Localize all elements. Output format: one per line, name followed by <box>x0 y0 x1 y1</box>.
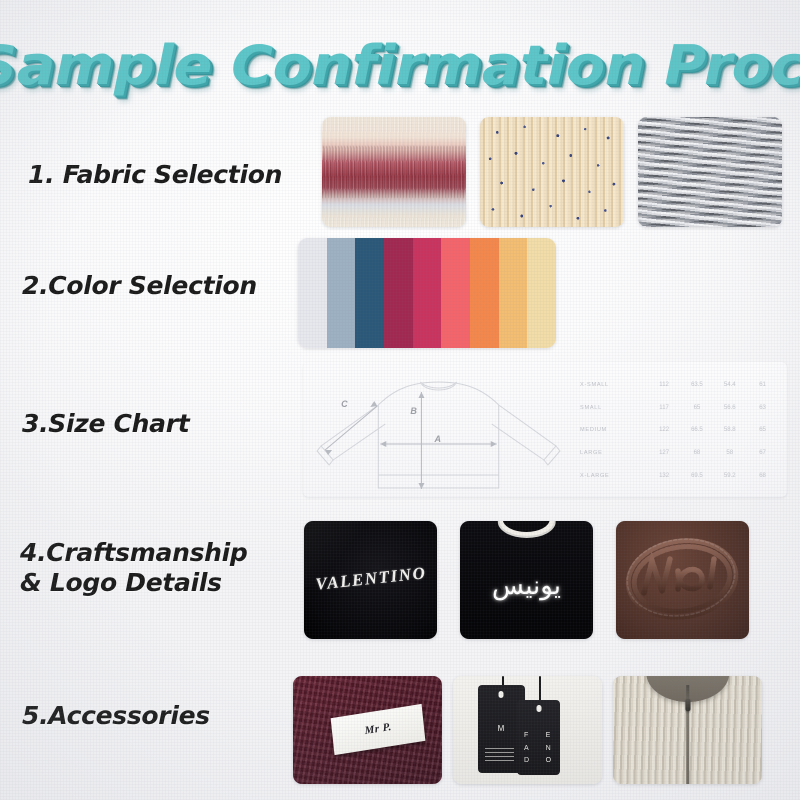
color-swatch-9[interactable] <box>527 238 556 348</box>
color-swatch-5[interactable] <box>413 238 442 348</box>
size-value: 56.6 <box>713 405 746 411</box>
craft-image-arabic-print[interactable]: يونيس <box>460 521 593 639</box>
color-swatch-6[interactable] <box>441 238 470 348</box>
hangtag-back: FAD ENO <box>517 700 560 776</box>
size-name: X-LARGE <box>580 473 648 479</box>
marl-texture-overlay-2 <box>638 117 782 227</box>
size-table-row: X-LARGE13269.559.268 <box>580 473 779 479</box>
color-palette-strip[interactable] <box>298 238 556 348</box>
measure-label-a: A <box>433 434 441 444</box>
size-name: SMALL <box>580 405 648 411</box>
sweater-technical-drawing: A B C <box>303 362 574 497</box>
size-table-row: SMALL1176556.663 <box>580 405 779 411</box>
accessory-woven-label[interactable]: Mr P. <box>293 676 442 784</box>
fabric-swatch-3[interactable] <box>638 117 782 227</box>
accessory-zipper-detail[interactable] <box>613 676 762 784</box>
size-value: 66.5 <box>681 427 714 433</box>
color-swatch-4[interactable] <box>384 238 413 348</box>
size-table: X-SMALL11263.554.461SMALL1176556.663MEDI… <box>574 362 787 497</box>
hangtag-hole-2 <box>536 705 541 712</box>
size-value: 68 <box>681 450 714 456</box>
fabric-swatch-1[interactable] <box>322 117 466 227</box>
arabic-script-print: يونيس <box>492 573 561 599</box>
hangtag-left-letters: FAD <box>524 727 530 769</box>
size-value: 63.5 <box>681 382 714 388</box>
step-label-4-line1: 4.Craftsmanship <box>20 538 248 568</box>
hangtag-letter: N <box>546 745 552 752</box>
size-value: 122 <box>648 427 681 433</box>
color-swatch-3[interactable] <box>355 238 384 348</box>
size-name: X-SMALL <box>580 382 648 388</box>
hangtag-letter: D <box>524 757 530 764</box>
step-label-3-line1: 3.Size Chart <box>22 409 189 438</box>
measure-label-c: C <box>341 399 348 409</box>
size-value: 65 <box>681 405 714 411</box>
poster-canvas: Sample Confirmation Process 1. Fabric Se… <box>0 0 800 800</box>
color-swatch-8[interactable] <box>499 238 528 348</box>
care-label-text: Mr P. <box>364 721 392 737</box>
fabric-swatch-2[interactable] <box>480 117 624 227</box>
size-value: 68 <box>746 473 779 479</box>
step-label-4: 4.Craftsmanship & Logo Details <box>20 538 248 598</box>
size-table-row: X-SMALL11263.554.461 <box>580 382 779 388</box>
size-chart-card[interactable]: A B C X-SMALL11263.554.461SMALL1176556.6… <box>303 362 787 497</box>
size-value: 54.4 <box>713 382 746 388</box>
step-label-5-line1: 5.Accessories <box>22 701 210 730</box>
size-value: 127 <box>648 450 681 456</box>
zipper-pull <box>685 699 690 711</box>
speckle-overlay <box>480 117 624 227</box>
page-title: Sample Confirmation Process <box>0 34 800 98</box>
accessory-hangtags[interactable]: M FAD ENO <box>453 676 602 784</box>
size-table-row: MEDIUM12266.558.865 <box>580 427 779 433</box>
step-label-1-line1: 1. Fabric Selection <box>28 160 282 189</box>
craft-image-embossed-logo[interactable] <box>616 521 749 639</box>
hangtag-fineprint <box>485 748 515 762</box>
size-value: 67 <box>746 450 779 456</box>
hangtag-hole-1 <box>499 691 504 698</box>
step-label-2: 2.Color Selection <box>22 271 257 301</box>
step-label-4-line2: & Logo Details <box>20 568 248 598</box>
size-name: MEDIUM <box>580 427 648 433</box>
craft-image-valentino[interactable]: VALENTINO <box>304 521 437 639</box>
color-swatch-7[interactable] <box>470 238 499 348</box>
step-label-5: 5.Accessories <box>22 701 210 731</box>
color-swatch-1[interactable] <box>298 238 327 348</box>
size-value: 117 <box>648 405 681 411</box>
size-value: 58.8 <box>713 427 746 433</box>
hangtag-letter: M <box>498 724 506 733</box>
size-value: 132 <box>648 473 681 479</box>
tshirt-collar <box>497 521 556 538</box>
size-value: 59.2 <box>713 473 746 479</box>
size-value: 112 <box>648 382 681 388</box>
size-value: 61 <box>746 382 779 388</box>
hangtag-letter: F <box>524 732 530 739</box>
hangtag-letter: O <box>546 757 552 764</box>
fabric-texture-band <box>322 146 466 199</box>
measure-label-b: B <box>410 406 417 416</box>
step-label-2-line1: 2.Color Selection <box>22 271 257 300</box>
hangtag-letter: A <box>524 745 530 752</box>
size-table-row: LARGE127685867 <box>580 450 779 456</box>
size-value: 69.5 <box>681 473 714 479</box>
step-label-1: 1. Fabric Selection <box>28 160 282 190</box>
step-label-3: 3.Size Chart <box>22 409 189 439</box>
size-value: 65 <box>746 427 779 433</box>
hangtag-right-letters: ENO <box>546 727 552 769</box>
size-value: 63 <box>746 405 779 411</box>
size-name: LARGE <box>580 450 648 456</box>
size-value: 58 <box>713 450 746 456</box>
hangtag-letter: E <box>546 732 552 739</box>
color-swatch-2[interactable] <box>327 238 356 348</box>
